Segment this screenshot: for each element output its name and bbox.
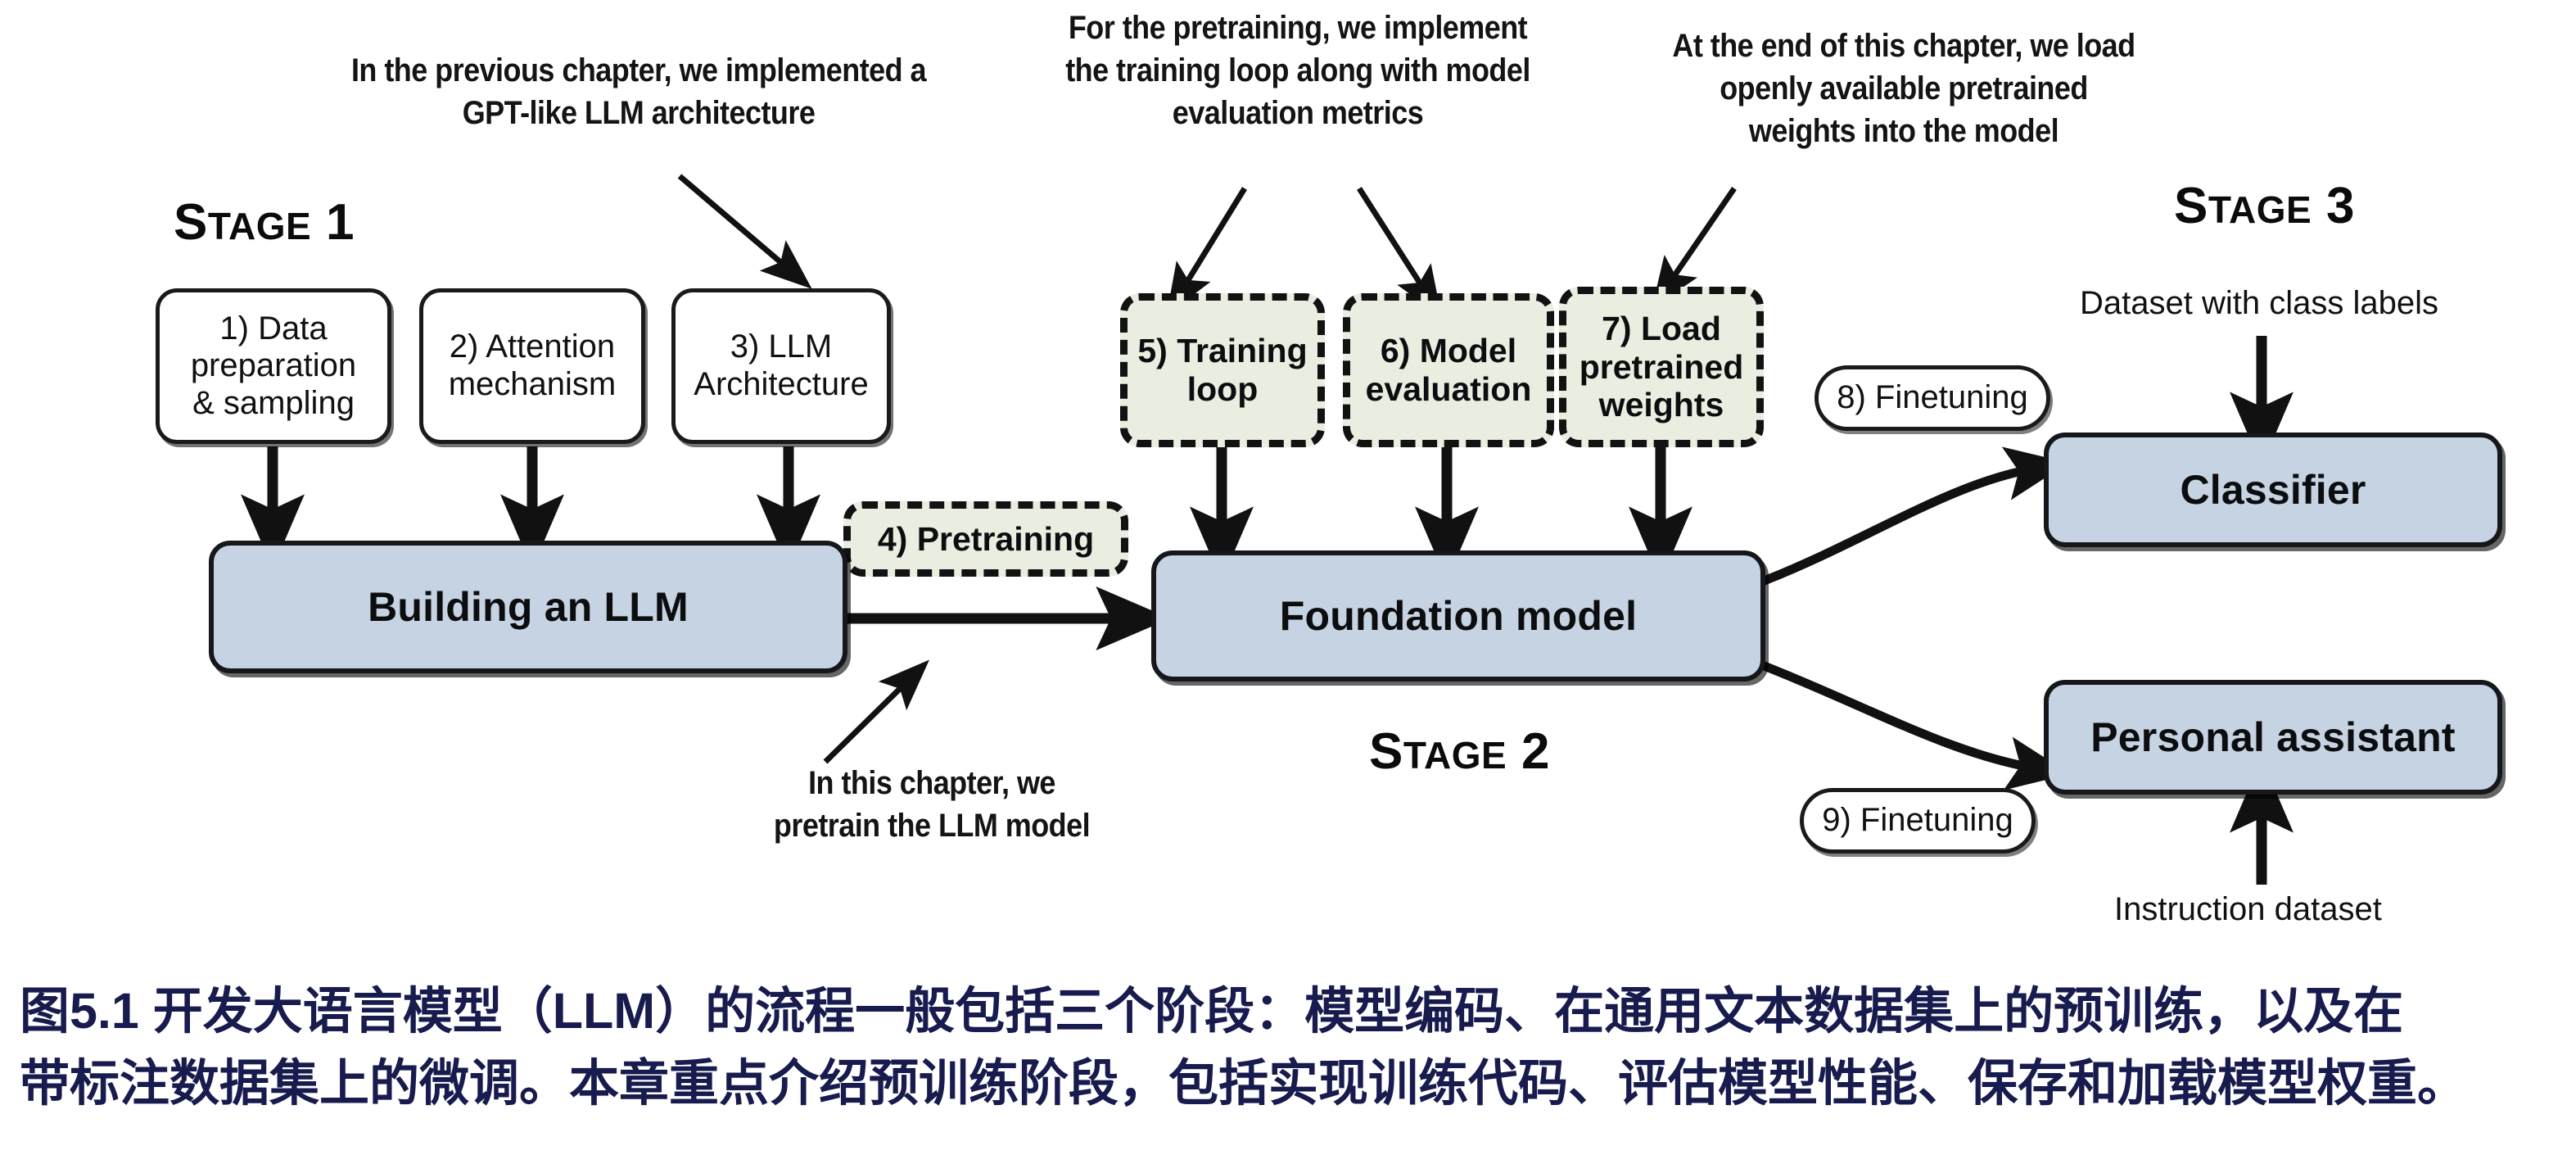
step-6-box[interactable]: 6) Model evaluation [1343,293,1554,447]
step-line: 9) Finetuning [1822,802,2013,840]
callout-line: pretrain the LLM model [696,804,1168,847]
stage-capital: S [2174,178,2208,234]
step-9-box[interactable]: 9) Finetuning [1800,788,2036,854]
step-8-box[interactable]: 8) Finetuning [1814,365,2050,431]
stage-1-label: STAGE 1 [174,193,355,251]
step-line: mechanism [449,366,617,404]
arrow-callout-to-pretraining [825,680,909,762]
arrow-callout-to-step5 [1182,188,1245,291]
step-1-box[interactable]: 1) Data preparation & sampling [156,288,391,444]
stage-number: 2 [1521,723,1550,780]
callout-previous-chapter: In the previous chapter, we implemented … [307,49,970,134]
step-line: 3) LLM [694,328,868,366]
step-line: 8) Finetuning [1837,379,2027,417]
block-label: Foundation model [1280,593,1637,640]
callout-line: In this chapter, we [696,762,1168,804]
step-4-box[interactable]: 4) Pretraining [843,501,1128,577]
personal-assistant-box[interactable]: Personal assistant [2044,680,2502,795]
step-line: Architecture [694,366,868,404]
stage-number: 3 [2326,178,2355,234]
step-line: preparation [191,347,356,385]
stage-capital: S [174,194,208,251]
caption-line-1: 图5.1 开发大语言模型（LLM）的流程一般包括三个阶段：模型编码、在通用文本数… [20,975,2556,1047]
stage-3-label: STAGE 3 [2174,177,2355,235]
callout-load-weights: At the end of this chapter, we load open… [1631,25,2176,152]
step-line: 1) Data [191,310,356,348]
callout-this-chapter: In this chapter, we pretrain the LLM mod… [696,762,1168,847]
step-3-box[interactable]: 3) LLM Architecture [671,288,891,444]
step-7-box[interactable]: 7) Load pretrained weights [1559,287,1764,447]
classifier-box[interactable]: Classifier [2044,433,2502,547]
arrow-callout-to-step3 [680,176,790,270]
step-5-box[interactable]: 5) Training loop [1120,293,1325,447]
step-line: 4) Pretraining [878,520,1094,559]
arrow-callout-to-step7 [1668,188,1734,285]
instruction-dataset-label: Instruction dataset [2114,891,2382,928]
step-line: 7) Load [1579,310,1744,348]
callout-line: For the pretraining, we implement [1025,7,1570,49]
caption-line-2: 带标注数据集上的微调。本章重点介绍预训练阶段，包括实现训练代码、评估模型性能、保… [20,1047,2556,1119]
callout-line: In the previous chapter, we implemented … [307,49,970,92]
callout-line: GPT-like LLM architecture [307,92,970,134]
foundation-model-box[interactable]: Foundation model [1151,550,1765,682]
step-line: 5) Training [1137,332,1307,370]
step-line: 6) Model [1366,332,1532,370]
stage-number: 1 [326,194,355,251]
figure-caption: 图5.1 开发大语言模型（LLM）的流程一般包括三个阶段：模型编码、在通用文本数… [0,975,2576,1120]
callout-line: weights into the model [1631,110,2176,152]
step-line: & sampling [191,385,356,423]
step-line: pretrained [1579,348,1744,387]
block-label: Classifier [2180,467,2366,514]
arrow-foundation-to-assistant [1762,665,2036,768]
step-2-box[interactable]: 2) Attention mechanism [419,288,645,444]
stage-capital: S [1369,723,1403,780]
step-line: weights [1579,386,1744,424]
dataset-class-labels-label: Dataset with class labels [2080,285,2438,322]
callout-pretraining-loop: For the pretraining, we implement the tr… [1025,7,1570,134]
arrow-callout-to-step6 [1359,188,1426,293]
step-line: evaluation [1366,370,1532,409]
block-label: Personal assistant [2090,714,2455,761]
step-line: 2) Attention [449,328,617,366]
stage-rest: TAGE [208,205,311,247]
stage-2-label: STAGE 2 [1369,722,1550,781]
callout-line: At the end of this chapter, we load [1631,25,2176,67]
callout-line: openly available pretrained [1631,67,2176,110]
step-line: loop [1137,370,1307,409]
arrow-foundation-to-classifier [1762,469,2035,582]
figure-diagram: In the previous chapter, we implemented … [0,0,2576,971]
stage-rest: TAGE [1403,734,1507,777]
block-label: Building an LLM [368,584,689,631]
callout-line: the training loop along with model [1025,49,1570,92]
stage-rest: TAGE [2208,188,2312,231]
callout-line: evaluation metrics [1025,92,1570,134]
building-an-llm-box[interactable]: Building an LLM [209,541,847,673]
